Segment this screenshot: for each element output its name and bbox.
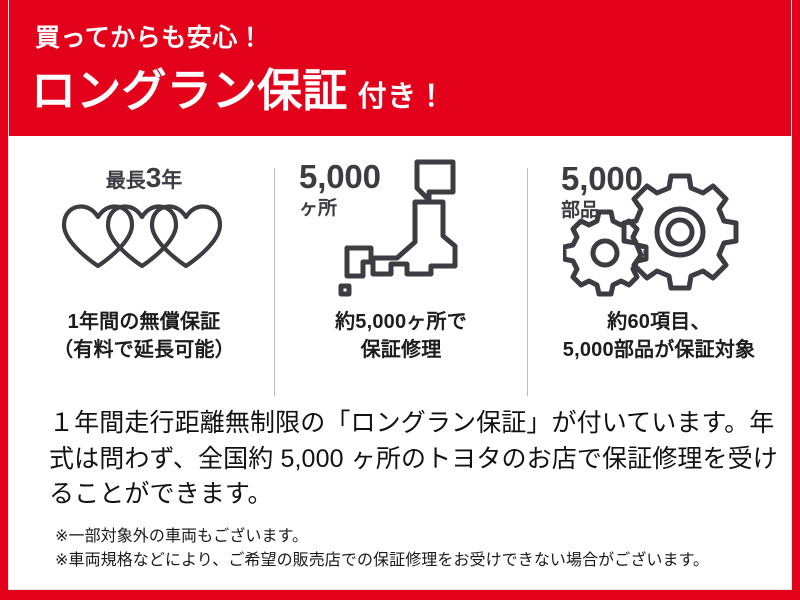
feature-column-warranty-period: 最長3年 1年間の無償保証 （有料で延長可能） (19, 150, 269, 395)
locations-caption: 約5,000ヶ所で 保証修理 (281, 308, 521, 365)
footnote-line: ※車両規格などにより、ご希望の販売店での保証修理をお受けできない場合がございます… (55, 549, 785, 573)
caption-line: 5,000部品が保証対象 (533, 336, 785, 364)
feature-column-parts: 5,000 部品 約60項目、 5,000部品が保証対象 (533, 150, 785, 395)
locations-number: 5,000 (299, 160, 381, 193)
banner-title-main: ロングラン保証 (31, 68, 348, 113)
parts-caption: 約60項目、 5,000部品が保証対象 (533, 308, 785, 365)
max-years-number: 3 (146, 162, 162, 193)
header-banner: 買ってからも安心！ ロングラン保証 付き！ (9, 0, 792, 136)
body-paragraph: １年間走行距離無制限の「ロングラン保証」が付いています。年式は問わず、全国約 5… (49, 406, 779, 513)
column-divider-1 (274, 168, 275, 396)
japan-map-icon-area: 5,000 ヶ所 (281, 150, 521, 308)
locations-unit: ヶ所 (299, 199, 381, 218)
max-years-headline: 最長3年 (19, 164, 269, 192)
warranty-poster: 買ってからも安心！ ロングラン保証 付き！ 最長3年 (0, 0, 800, 600)
feature-columns: 最長3年 1年間の無償保証 （有料で延長可能） (9, 150, 792, 395)
gears-icon-area: 5,000 部品 (533, 150, 785, 308)
banner-subtitle: 買ってからも安心！ (35, 26, 263, 51)
caption-line: 1年間の無償保証 (19, 308, 269, 336)
hearts-icon-area: 最長3年 (19, 150, 269, 308)
parts-count-overlay: 5,000 部品 (561, 162, 643, 220)
parts-unit: 部品 (561, 201, 643, 220)
parts-number: 5,000 (561, 162, 643, 195)
footnotes: ※一部対象外の車両もございます。 ※車両規格などにより、ご希望の販売店での保証修… (55, 525, 785, 572)
column-divider-2 (527, 168, 528, 396)
feature-column-locations: 5,000 ヶ所 約5,000ヶ所で 保証修理 (281, 150, 521, 395)
caption-line: （有料で延長可能） (19, 336, 269, 364)
banner-title-suffix: 付き！ (358, 83, 447, 112)
three-hearts-icon (58, 200, 230, 277)
caption-line: 約60項目、 (533, 308, 785, 336)
caption-line: 保証修理 (281, 336, 521, 364)
max-years-prefix: 最長 (106, 170, 146, 192)
max-years-unit: 年 (161, 169, 182, 192)
banner-title: ロングラン保証 付き！ (31, 68, 446, 113)
footnote-line: ※一部対象外の車両もございます。 (55, 525, 785, 549)
warranty-period-caption: 1年間の無償保証 （有料で延長可能） (19, 308, 269, 365)
caption-line: 約5,000ヶ所で (281, 308, 521, 336)
poster-card: 買ってからも安心！ ロングラン保証 付き！ 最長3年 (8, 0, 792, 590)
locations-count-overlay: 5,000 ヶ所 (299, 160, 381, 218)
